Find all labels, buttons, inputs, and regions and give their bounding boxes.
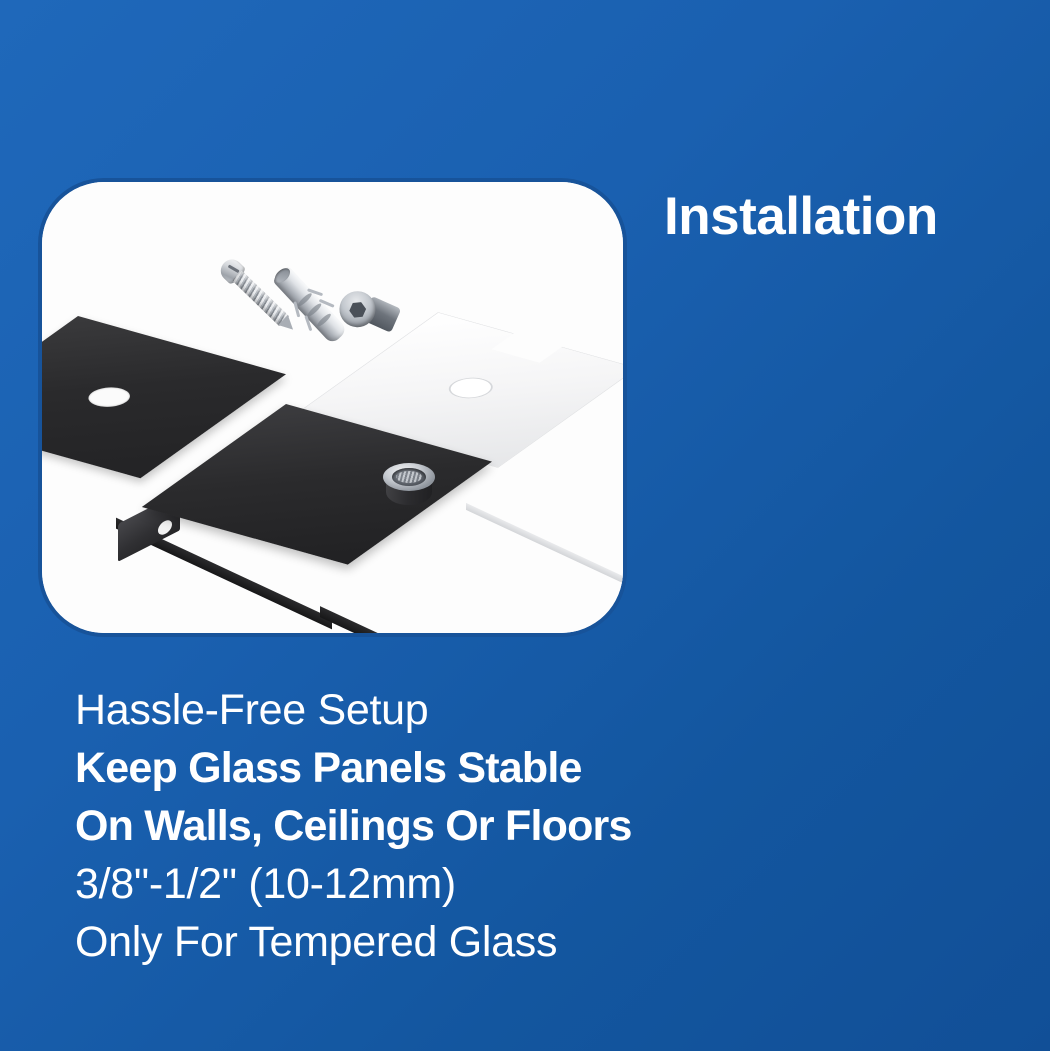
caption-line: Keep Glass Panels Stable: [75, 739, 895, 797]
gasket-edge: [466, 503, 623, 604]
caption-block: Hassle-Free Setup Keep Glass Panels Stab…: [75, 681, 895, 971]
page-title: Installation: [664, 186, 1016, 248]
gasket-center-hole: [440, 374, 501, 402]
promo-banner: Installation: [0, 0, 1050, 1051]
caption-line: On Walls, Ceilings Or Floors: [75, 797, 895, 855]
hex-bolt-icon: [331, 282, 405, 348]
boss-threads: [396, 471, 422, 483]
product-photo-stage: [42, 182, 623, 633]
product-image-card: [42, 182, 623, 633]
plate-center-hole: [80, 384, 138, 411]
threaded-boss-icon: [383, 463, 437, 507]
caption-line: 3/8"-1/2" (10-12mm): [75, 855, 895, 913]
caption-line: Hassle-Free Setup: [75, 681, 895, 739]
caption-line: Only For Tempered Glass: [75, 913, 895, 971]
plate-edge: [320, 606, 534, 633]
